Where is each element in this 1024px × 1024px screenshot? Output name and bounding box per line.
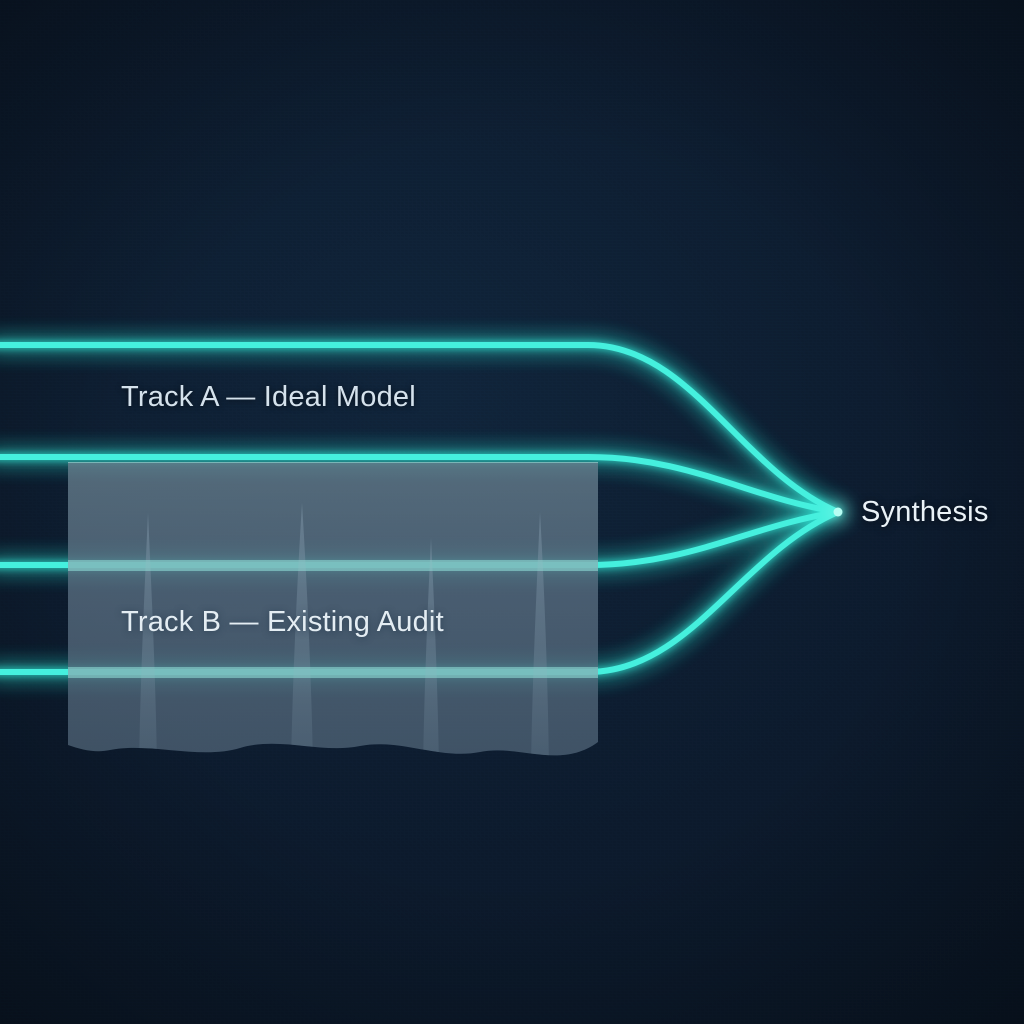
diagram-canvas: Track A — Ideal Model Track B — Existing…	[0, 0, 1024, 1024]
track-b-label: Track B — Existing Audit	[121, 606, 444, 639]
panel-line-highlight-2	[68, 452, 598, 463]
track-a-label: Track A — Ideal Model	[121, 381, 416, 414]
synthesis-label: Synthesis	[861, 496, 989, 529]
